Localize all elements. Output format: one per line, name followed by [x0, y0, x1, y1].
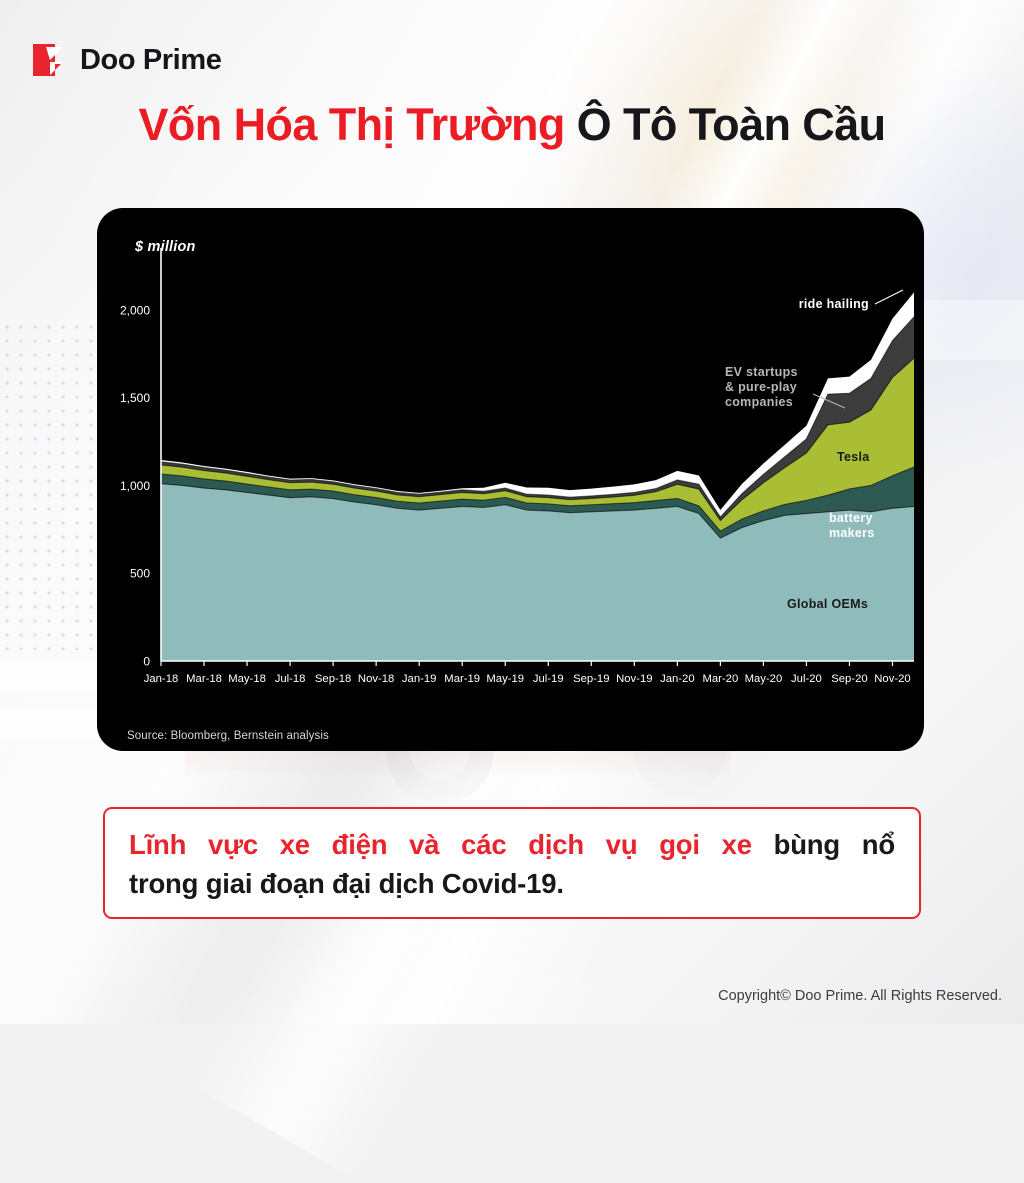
y-axis-tick-label: 1,500 — [120, 391, 150, 405]
page-title: Vốn Hóa Thị Trường Ô Tô Toàn Cầu — [0, 99, 1024, 151]
x-axis-tick-label: Jan-18 — [144, 673, 179, 685]
caption-line-1: Lĩnh vực xe điện và các dịch vụ gọi xe b… — [129, 825, 895, 864]
y-axis-tick-label: 2,000 — [120, 303, 150, 317]
x-axis-tick-label: Sep-20 — [831, 673, 867, 685]
caption-black-inline: bùng nổ — [752, 829, 895, 860]
x-axis-tick-label: May-19 — [486, 673, 524, 685]
chart-annotation: makers — [829, 526, 875, 540]
chart-annotation: battery — [829, 511, 873, 525]
x-axis-tick-label: Nov-19 — [616, 673, 652, 685]
y-axis-tick-label: 0 — [143, 655, 150, 669]
brand-logo-text: Doo Prime — [80, 44, 221, 77]
caption-red-text: Lĩnh vực xe điện và các dịch vụ gọi xe — [129, 829, 752, 860]
copyright-footer: Copyright© Doo Prime. All Rights Reserve… — [718, 988, 1002, 1004]
chart-annotation: Tesla — [837, 450, 870, 464]
page-title-black-part: Ô Tô Toàn Cầu — [565, 99, 886, 150]
chart-annotation: Global OEMs — [787, 597, 868, 611]
doo-prime-flag-icon — [33, 42, 69, 78]
x-axis-tick-label: Jan-19 — [402, 673, 437, 685]
x-axis-tick-label: Jul-20 — [791, 673, 822, 685]
x-axis-tick-label: Mar-20 — [702, 673, 738, 685]
chart-annotation: EV startups — [725, 365, 798, 379]
x-axis-tick-label: Mar-19 — [444, 673, 480, 685]
x-axis-tick-label: Jul-18 — [275, 673, 306, 685]
x-axis-tick-label: Jan-20 — [660, 673, 695, 685]
y-axis-tick-label: 1,000 — [120, 479, 150, 493]
caption-box: Lĩnh vực xe điện và các dịch vụ gọi xe b… — [103, 807, 921, 919]
x-axis-tick-label: Jul-19 — [533, 673, 564, 685]
chart-annotation: ride hailing — [799, 297, 869, 311]
stacked-area-chart: 05001,0001,5002,000Jan-18Mar-18May-18Jul… — [97, 208, 924, 751]
chart-panel: $ million 05001,0001,5002,000Jan-18Mar-1… — [97, 208, 924, 751]
chart-annotation: & pure-play — [725, 380, 797, 394]
x-axis-tick-label: Nov-18 — [358, 673, 394, 685]
x-axis-tick-label: May-20 — [745, 673, 783, 685]
page-title-red-part: Vốn Hóa Thị Trường — [138, 99, 564, 150]
chart-annotation: companies — [725, 395, 793, 409]
brand-logo[interactable]: Doo Prime — [33, 42, 221, 78]
y-axis-tick-label: 500 — [130, 567, 150, 581]
x-axis-tick-label: Mar-18 — [186, 673, 222, 685]
x-axis-tick-label: Sep-18 — [315, 673, 351, 685]
chart-source-note: Source: Bloomberg, Bernstein analysis — [127, 730, 329, 742]
caption-line-2: trong giai đoạn đại dịch Covid-19. — [129, 864, 895, 903]
x-axis-tick-label: Nov-20 — [874, 673, 910, 685]
x-axis-tick-label: Sep-19 — [573, 673, 609, 685]
annotation-leader-line — [875, 290, 903, 304]
x-axis-tick-label: May-18 — [228, 673, 266, 685]
